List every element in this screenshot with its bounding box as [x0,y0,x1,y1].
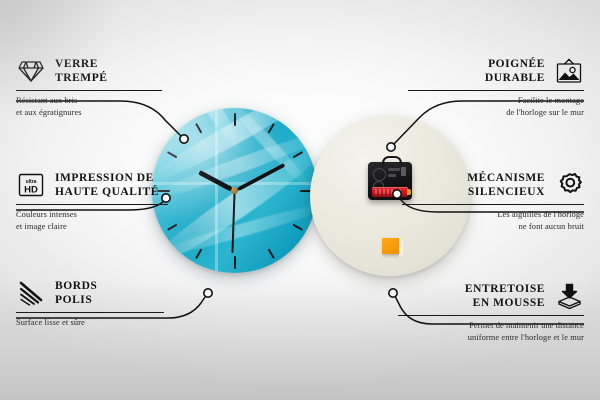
feature-header: POIGNÉE DURABLE [394,56,584,86]
title-line-2: SILENCIEUX [468,186,545,198]
feature-description: Couleurs intenses et image claire [16,209,206,232]
ultra-hd-icon-main-label: HD [24,185,38,196]
clock-center-pin [231,187,238,194]
feature-divider [408,90,584,91]
title-line-1: VERRE [55,58,98,70]
desc-line-2: uniforme entre l'horloge et le mur [468,333,584,342]
desc-line-2: de l'horloge sur le mur [506,108,584,117]
title-line-2: HAUTE QUALITÉ [55,186,159,198]
title-line-2: TREMPÉ [55,72,108,84]
title-line-1: BORDS [55,280,97,292]
feature-description: Facilite le montage de l'horloge sur le … [394,95,584,118]
feature-description: Surface lisse et sûre [16,317,206,329]
feature-header: BORDS POLIS [16,278,206,308]
feature-mecanisme-silencieux: MÉCANISME SILENCIEUX Les aiguilles de l'… [394,170,584,233]
picture-frame-hanger-icon [554,56,584,86]
feature-title: POIGNÉE DURABLE [485,57,545,86]
desc-line-1: Facilite le montage [518,96,584,105]
feature-bords-polis: BORDS POLIS Surface lisse et sûre [16,278,206,329]
title-line-1: IMPRESSION DE [55,172,154,184]
diamond-icon [16,56,46,86]
desc-line-1: Couleurs intenses [16,210,77,219]
feature-impression-haute-qualite: ultra HD IMPRESSION DE HAUTE QUALITÉ Cou… [16,170,206,233]
desc-line-2: et aux égratignures [16,108,82,117]
feature-poignee-durable: POIGNÉE DURABLE Facilite le montage de l… [394,56,584,119]
title-line-2: EN MOUSSE [473,297,545,309]
feature-title: IMPRESSION DE HAUTE QUALITÉ [55,171,159,200]
feature-title: MÉCANISME SILENCIEUX [467,171,545,200]
title-line-1: ENTRETOISE [465,283,545,295]
feature-verre-trempe: VERRE TREMPÉ Résistant aux bris et aux é… [16,56,206,119]
feature-header: ultra HD IMPRESSION DE HAUTE QUALITÉ [16,170,206,200]
feature-title: VERRE TREMPÉ [55,57,108,86]
foam-spacer [382,238,399,254]
feature-divider [16,204,168,205]
ultra-hd-icon: ultra HD [16,170,46,200]
clock-tick [234,113,236,191]
desc-line-1: Surface lisse et sûre [16,318,85,327]
title-line-1: MÉCANISME [467,172,545,184]
feature-title: ENTRETOISE EN MOUSSE [465,282,545,311]
feature-divider [398,315,584,316]
desc-line-1: Les aiguilles de l'horloge [497,210,584,219]
feature-description: Les aiguilles de l'horloge ne font aucun… [394,209,584,232]
feature-header: VERRE TREMPÉ [16,56,206,86]
desc-line-1: Résistant aux bris [16,96,77,105]
gear-icon [554,170,584,200]
feature-divider [16,312,164,313]
feature-description: Permet de maintenir une distance uniform… [394,320,584,343]
foam-spacer-arrow-icon [554,281,584,311]
infographic-canvas: VERRE TREMPÉ Résistant aux bris et aux é… [0,0,600,400]
hanger-loop-icon [382,156,402,167]
feature-divider [16,90,162,91]
title-line-1: POIGNÉE [488,58,545,70]
mechanism-dial [373,168,386,181]
title-line-2: POLIS [55,294,92,306]
clock-tick [235,190,313,192]
desc-line-2: et image claire [16,222,67,231]
feature-description: Résistant aux bris et aux égratignures [16,95,206,118]
feature-header: MÉCANISME SILENCIEUX [394,170,584,200]
desc-line-2: ne font aucun bruit [519,222,584,231]
desc-line-1: Permet de maintenir une distance [469,321,584,330]
feature-title: BORDS POLIS [55,279,97,308]
polished-edges-icon [16,278,46,308]
feature-entretoise-en-mousse: ENTRETOISE EN MOUSSE Permet de maintenir… [394,281,584,344]
title-line-2: DURABLE [485,72,545,84]
feature-header: ENTRETOISE EN MOUSSE [394,281,584,311]
feature-divider [402,204,584,205]
